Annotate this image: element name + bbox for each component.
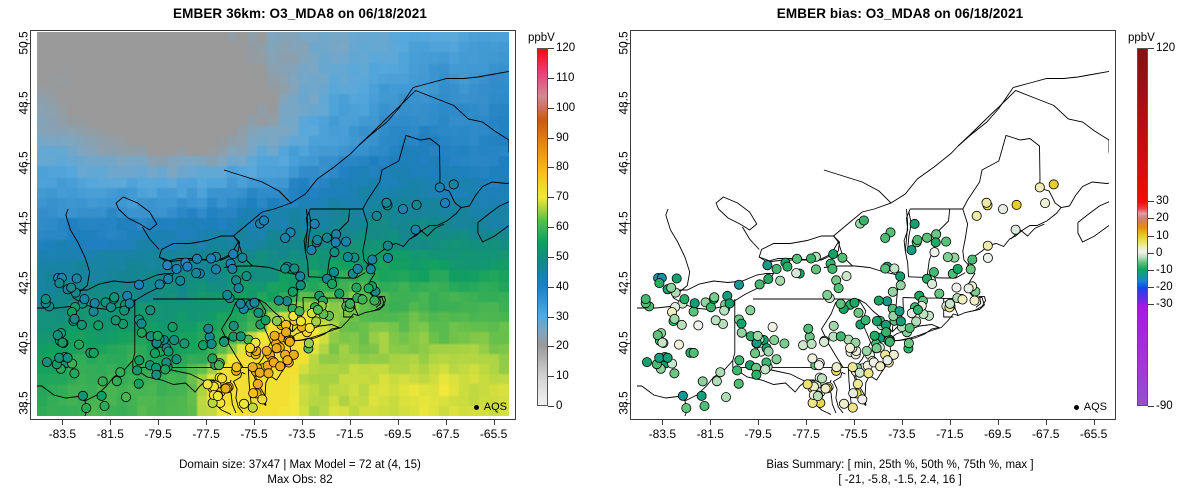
aqs-station-marker[interactable] bbox=[228, 264, 237, 273]
aqs-station-marker[interactable] bbox=[874, 296, 883, 305]
aqs-station-marker[interactable] bbox=[313, 305, 322, 314]
y-tick-label: 48.5 bbox=[616, 103, 630, 126]
aqs-station-marker[interactable] bbox=[972, 211, 981, 220]
aqs-station-marker[interactable] bbox=[353, 264, 362, 273]
aqs-station-marker[interactable] bbox=[896, 281, 905, 290]
aqs-station-marker[interactable] bbox=[1035, 183, 1044, 192]
aqs-station-marker[interactable] bbox=[854, 308, 863, 317]
aqs-station-marker[interactable] bbox=[658, 338, 667, 347]
aqs-station-marker[interactable] bbox=[964, 284, 973, 293]
aqs-station-marker[interactable] bbox=[249, 389, 258, 398]
aqs-station-marker[interactable] bbox=[449, 180, 458, 189]
aqs-station-marker[interactable] bbox=[199, 341, 208, 350]
aqs-station-marker[interactable] bbox=[281, 233, 290, 242]
aqs-station-marker[interactable] bbox=[689, 348, 698, 357]
colorbar-tick-label: 100 bbox=[556, 102, 575, 114]
aqs-station-marker[interactable] bbox=[382, 198, 391, 207]
aqs-station-marker[interactable] bbox=[836, 332, 845, 341]
aqs-station-marker[interactable] bbox=[689, 307, 698, 316]
aqs-station-marker[interactable] bbox=[832, 363, 841, 372]
aqs-station-marker[interactable] bbox=[872, 316, 881, 325]
aqs-station-marker[interactable] bbox=[711, 316, 720, 325]
aqs-station-marker[interactable] bbox=[368, 255, 377, 264]
aqs-station-marker[interactable] bbox=[55, 353, 64, 362]
aqs-station-marker[interactable] bbox=[435, 183, 444, 192]
aqs-station-marker[interactable] bbox=[211, 265, 220, 274]
aqs-station-marker[interactable] bbox=[164, 274, 173, 283]
aqs-station-marker[interactable] bbox=[885, 337, 894, 346]
bias-caption: Bias Summary: [ min, 25th %, 50th %, 75t… bbox=[600, 458, 1200, 488]
x-tick bbox=[950, 420, 951, 425]
aqs-station-marker[interactable] bbox=[168, 322, 177, 331]
aqs-station-marker[interactable] bbox=[41, 295, 50, 304]
aqs-station-marker[interactable] bbox=[94, 321, 103, 330]
aqs-station-marker[interactable] bbox=[100, 401, 109, 410]
aqs-station-marker[interactable] bbox=[313, 235, 322, 244]
aqs-station-marker[interactable] bbox=[412, 200, 421, 209]
aqs-station-marker[interactable] bbox=[694, 321, 703, 330]
aqs-station-marker[interactable] bbox=[780, 339, 789, 348]
aqs-station-marker[interactable] bbox=[329, 268, 338, 277]
aqs-station-marker[interactable] bbox=[135, 356, 144, 365]
aqs-station-marker[interactable] bbox=[153, 331, 162, 340]
aqs-station-marker[interactable] bbox=[183, 262, 192, 271]
aqs-station-marker[interactable] bbox=[752, 370, 761, 379]
aqs-station-marker[interactable] bbox=[282, 328, 291, 337]
aqs-station-marker[interactable] bbox=[930, 248, 939, 257]
aqs-station-marker[interactable] bbox=[881, 264, 890, 273]
aqs-station-marker[interactable] bbox=[264, 369, 273, 378]
aqs-station-marker[interactable] bbox=[352, 283, 361, 292]
aqs-station-marker[interactable] bbox=[206, 254, 215, 263]
aqs-station-marker[interactable] bbox=[217, 374, 226, 383]
aqs-station-marker[interactable] bbox=[1012, 200, 1021, 209]
aqs-station-marker[interactable] bbox=[849, 389, 858, 398]
aqs-station-marker[interactable] bbox=[261, 316, 270, 325]
aqs-station-marker[interactable] bbox=[111, 316, 120, 325]
x-tick-label: -83.5 bbox=[649, 427, 676, 441]
aqs-station-marker[interactable] bbox=[678, 391, 687, 400]
aqs-station-marker[interactable] bbox=[441, 199, 450, 208]
aqs-station-marker[interactable] bbox=[966, 265, 975, 274]
aqs-station-marker[interactable] bbox=[331, 238, 340, 247]
colorbar-tick bbox=[548, 287, 554, 288]
aqs-station-marker[interactable] bbox=[112, 377, 121, 386]
aqs-station-marker[interactable] bbox=[755, 280, 764, 289]
bias-plot-area[interactable]: AQS bbox=[630, 30, 1116, 420]
aqs-station-marker[interactable] bbox=[896, 272, 905, 281]
aqs-station-marker[interactable] bbox=[285, 337, 294, 346]
aqs-station-marker[interactable] bbox=[655, 353, 664, 362]
aqs-station-marker[interactable] bbox=[134, 379, 143, 388]
aqs-station-marker[interactable] bbox=[110, 293, 119, 302]
aqs-station-marker[interactable] bbox=[176, 276, 185, 285]
aqs-station-marker[interactable] bbox=[982, 198, 991, 207]
aqs-station-marker[interactable] bbox=[845, 343, 854, 352]
aqs-station-marker[interactable] bbox=[366, 265, 375, 274]
aqs-station-marker[interactable] bbox=[913, 305, 922, 314]
aqs-station-marker[interactable] bbox=[953, 264, 962, 273]
aqs-station-marker[interactable] bbox=[89, 307, 98, 316]
aqs-station-marker[interactable] bbox=[716, 368, 725, 377]
aqs-station-marker[interactable] bbox=[680, 295, 689, 304]
model-raster-wrap bbox=[37, 32, 509, 416]
aqs-station-marker[interactable] bbox=[970, 296, 979, 305]
aqs-station-marker[interactable] bbox=[881, 233, 890, 242]
aqs-station-marker[interactable] bbox=[172, 264, 181, 273]
aqs-station-marker[interactable] bbox=[942, 237, 951, 246]
aqs-station-marker[interactable] bbox=[945, 299, 954, 308]
aqs-station-marker[interactable] bbox=[80, 295, 89, 304]
aqs-station-marker[interactable] bbox=[97, 391, 106, 400]
aqs-station-marker[interactable] bbox=[670, 369, 679, 378]
aqs-station-marker[interactable] bbox=[192, 269, 201, 278]
aqs-station-marker[interactable] bbox=[839, 399, 848, 408]
aqs-station-marker[interactable] bbox=[725, 299, 734, 308]
aqs-station-marker[interactable] bbox=[270, 331, 279, 340]
aqs-station-marker[interactable] bbox=[817, 374, 826, 383]
aqs-station-marker[interactable] bbox=[232, 363, 241, 372]
aqs-station-marker[interactable] bbox=[55, 279, 64, 288]
y-tick-label: 42.5 bbox=[16, 283, 30, 306]
x-tick bbox=[806, 420, 807, 425]
aqs-station-marker[interactable] bbox=[72, 274, 81, 283]
aqs-station-marker[interactable] bbox=[721, 393, 730, 402]
aqs-station-marker[interactable] bbox=[710, 293, 719, 302]
colorbar-tick-label: -90 bbox=[1156, 400, 1173, 412]
aqs-station-marker[interactable] bbox=[783, 262, 792, 271]
bias-raster-wrap bbox=[637, 32, 1109, 416]
aqs-station-marker[interactable] bbox=[152, 370, 161, 379]
aqs-station-marker[interactable] bbox=[663, 353, 672, 362]
aqs-station-marker[interactable] bbox=[761, 365, 770, 374]
aqs-station-marker[interactable] bbox=[116, 368, 125, 377]
aqs-station-marker[interactable] bbox=[672, 274, 681, 283]
bias-caption-line2: [ -21, -5.8, -1.5, 2.4, 16 ] bbox=[600, 473, 1200, 488]
aqs-station-marker[interactable] bbox=[904, 339, 913, 348]
aqs-station-marker[interactable] bbox=[735, 356, 744, 365]
aqs-station-marker[interactable] bbox=[370, 296, 379, 305]
aqs-station-marker[interactable] bbox=[335, 289, 344, 298]
colorbar-tick-label: 110 bbox=[556, 72, 574, 84]
aqs-station-marker[interactable] bbox=[746, 306, 755, 315]
colorbar-tick-label: 80 bbox=[556, 161, 569, 173]
aqs-station-marker[interactable] bbox=[229, 250, 238, 259]
x-tick bbox=[1046, 420, 1047, 425]
aqs-station-marker[interactable] bbox=[803, 380, 812, 389]
aqs-station-marker[interactable] bbox=[698, 377, 707, 386]
aqs-station-marker[interactable] bbox=[983, 241, 992, 250]
aqs-station-marker[interactable] bbox=[952, 283, 961, 292]
aqs-station-marker[interactable] bbox=[829, 321, 838, 330]
x-tick bbox=[158, 420, 159, 425]
aqs-station-marker[interactable] bbox=[864, 369, 873, 378]
model-aqs-observations[interactable] bbox=[37, 32, 509, 416]
x-tick-label: -71.5 bbox=[936, 427, 963, 441]
aqs-station-marker[interactable] bbox=[58, 338, 67, 347]
aqs-station-marker[interactable] bbox=[792, 254, 801, 263]
colorbar-tick bbox=[1148, 406, 1154, 407]
aqs-station-marker[interactable] bbox=[342, 237, 351, 246]
aqs-station-marker[interactable] bbox=[63, 353, 72, 362]
aqs-station-marker[interactable] bbox=[848, 403, 857, 412]
aqs-station-marker[interactable] bbox=[213, 392, 222, 401]
aqs-station-marker[interactable] bbox=[383, 241, 392, 250]
colorbar-tick-label: 30 bbox=[556, 311, 569, 323]
aqs-station-marker[interactable] bbox=[855, 368, 864, 377]
aqs-station-marker[interactable] bbox=[42, 358, 51, 367]
aqs-station-marker[interactable] bbox=[733, 366, 742, 375]
aqs-station-marker[interactable] bbox=[223, 290, 232, 299]
x-tick-label: -75.5 bbox=[240, 427, 267, 441]
aqs-station-marker[interactable] bbox=[828, 264, 837, 273]
aqs-station-marker[interactable] bbox=[296, 281, 305, 290]
aqs-station-marker[interactable] bbox=[281, 264, 290, 273]
aqs-station-marker[interactable] bbox=[208, 354, 217, 363]
aqs-station-marker[interactable] bbox=[882, 328, 891, 337]
aqs-station-marker[interactable] bbox=[1041, 199, 1050, 208]
aqs-station-marker[interactable] bbox=[862, 346, 871, 355]
aqs-station-marker[interactable] bbox=[207, 339, 216, 348]
aqs-station-marker[interactable] bbox=[912, 317, 921, 326]
aqs-station-marker[interactable] bbox=[895, 307, 904, 316]
aqs-station-marker[interactable] bbox=[330, 248, 339, 257]
aqs-station-marker[interactable] bbox=[296, 272, 305, 281]
aqs-station-marker[interactable] bbox=[935, 289, 944, 298]
aqs-station-marker[interactable] bbox=[700, 401, 709, 410]
aqs-station-marker[interactable] bbox=[829, 250, 838, 259]
aqs-station-marker[interactable] bbox=[983, 253, 992, 262]
aqs-station-marker[interactable] bbox=[641, 295, 650, 304]
aqs-station-marker[interactable] bbox=[236, 332, 245, 341]
aqs-station-marker[interactable] bbox=[772, 264, 781, 273]
aqs-station-marker[interactable] bbox=[697, 391, 706, 400]
aqs-station-marker[interactable] bbox=[772, 355, 781, 364]
aqs-station-marker[interactable] bbox=[221, 384, 230, 393]
aqs-station-marker[interactable] bbox=[712, 377, 721, 386]
aqs-station-marker[interactable] bbox=[220, 337, 229, 346]
x-tick-label: -69.5 bbox=[984, 427, 1011, 441]
aqs-station-marker[interactable] bbox=[928, 279, 937, 288]
aqs-station-marker[interactable] bbox=[254, 308, 263, 317]
aqs-station-marker[interactable] bbox=[234, 284, 243, 293]
aqs-station-marker[interactable] bbox=[968, 255, 977, 264]
aqs-station-marker[interactable] bbox=[98, 377, 107, 386]
aqs-station-marker[interactable] bbox=[82, 404, 91, 413]
aqs-station-marker[interactable] bbox=[411, 225, 420, 234]
x-tick bbox=[398, 420, 399, 425]
aqs-station-marker[interactable] bbox=[161, 365, 170, 374]
colorbar-tick bbox=[1148, 253, 1154, 254]
aqs-station-marker[interactable] bbox=[137, 319, 146, 328]
aqs-station-marker[interactable] bbox=[811, 265, 820, 274]
aqs-station-marker[interactable] bbox=[931, 238, 940, 247]
aqs-station-marker[interactable] bbox=[1011, 225, 1020, 234]
aqs-station-marker[interactable] bbox=[253, 379, 262, 388]
aqs-station-marker[interactable] bbox=[125, 299, 134, 308]
aqs-station-marker[interactable] bbox=[734, 280, 743, 289]
aqs-station-marker[interactable] bbox=[929, 268, 938, 277]
aqs-station-marker[interactable] bbox=[163, 261, 172, 270]
aqs-station-marker[interactable] bbox=[239, 399, 248, 408]
aqs-station-marker[interactable] bbox=[890, 264, 899, 273]
aqs-station-marker[interactable] bbox=[753, 331, 762, 340]
aqs-station-marker[interactable] bbox=[133, 366, 142, 375]
aqs-station-marker[interactable] bbox=[242, 272, 251, 281]
aqs-station-marker[interactable] bbox=[77, 320, 86, 329]
model-plot-area[interactable]: AQS bbox=[30, 30, 516, 420]
aqs-station-marker[interactable] bbox=[858, 395, 867, 404]
aqs-station-marker[interactable] bbox=[836, 299, 845, 308]
aqs-station-marker[interactable] bbox=[768, 322, 777, 331]
aqs-station-marker[interactable] bbox=[180, 339, 189, 348]
aqs-station-marker[interactable] bbox=[238, 253, 247, 262]
aqs-station-marker[interactable] bbox=[734, 379, 743, 388]
aqs-station-marker[interactable] bbox=[276, 362, 285, 371]
aqs-station-marker[interactable] bbox=[655, 279, 664, 288]
colorbar-tick-label: 90 bbox=[556, 132, 569, 144]
aqs-station-marker[interactable] bbox=[296, 317, 305, 326]
aqs-station-marker[interactable] bbox=[134, 280, 143, 289]
aqs-station-marker[interactable] bbox=[383, 253, 392, 262]
aqs-station-marker[interactable] bbox=[850, 298, 859, 307]
aqs-station-marker[interactable] bbox=[804, 324, 813, 333]
aqs-station-marker[interactable] bbox=[820, 337, 829, 346]
aqs-station-marker[interactable] bbox=[358, 295, 367, 304]
aqs-station-marker[interactable] bbox=[842, 272, 851, 281]
aqs-station-marker[interactable] bbox=[274, 296, 283, 305]
aqs-station-marker[interactable] bbox=[203, 380, 212, 389]
aqs-station-marker[interactable] bbox=[312, 317, 321, 326]
colorbar-tick-label: 10 bbox=[556, 370, 569, 382]
aqs-station-marker[interactable] bbox=[770, 336, 779, 345]
aqs-station-marker[interactable] bbox=[310, 219, 319, 228]
aqs-station-marker[interactable] bbox=[372, 211, 381, 220]
aqs-station-marker[interactable] bbox=[799, 341, 808, 350]
aqs-station-marker[interactable] bbox=[245, 343, 254, 352]
aqs-station-marker[interactable] bbox=[67, 283, 76, 292]
aqs-station-marker[interactable] bbox=[876, 362, 885, 371]
aqs-station-marker[interactable] bbox=[258, 395, 267, 404]
aqs-station-marker[interactable] bbox=[913, 235, 922, 244]
aqs-station-marker[interactable] bbox=[690, 299, 699, 308]
aqs-station-marker[interactable] bbox=[823, 290, 832, 299]
aqs-station-marker[interactable] bbox=[764, 347, 773, 356]
colorbar-tick bbox=[548, 376, 554, 377]
aqs-station-marker[interactable] bbox=[958, 295, 967, 304]
aqs-station-marker[interactable] bbox=[888, 287, 897, 296]
aqs-station-marker[interactable] bbox=[813, 392, 822, 401]
aqs-station-marker[interactable] bbox=[667, 283, 676, 292]
aqs-station-marker[interactable] bbox=[70, 369, 79, 378]
colorbar-tick bbox=[1148, 201, 1154, 202]
aqs-station-marker[interactable] bbox=[290, 264, 299, 273]
aqs-station-marker[interactable] bbox=[288, 287, 297, 296]
aqs-station-marker[interactable] bbox=[776, 276, 785, 285]
aqs-station-marker[interactable] bbox=[806, 254, 815, 263]
aqs-station-marker[interactable] bbox=[677, 320, 686, 329]
model-y-axis: 38.540.542.544.546.548.550.5 bbox=[0, 30, 30, 420]
aqs-station-marker[interactable] bbox=[910, 219, 919, 228]
aqs-station-marker[interactable] bbox=[236, 299, 245, 308]
aqs-station-marker[interactable] bbox=[853, 379, 862, 388]
aqs-station-marker[interactable] bbox=[1049, 180, 1058, 189]
aqs-station-marker[interactable] bbox=[137, 328, 146, 337]
aqs-station-marker[interactable] bbox=[272, 316, 281, 325]
aqs-station-marker[interactable] bbox=[259, 216, 268, 225]
aqs-station-marker[interactable] bbox=[170, 336, 179, 345]
bias-caption-line1: Bias Summary: [ min, 25th %, 50th %, 75t… bbox=[766, 459, 1033, 471]
aqs-station-marker[interactable] bbox=[896, 317, 905, 326]
aqs-station-marker[interactable] bbox=[90, 299, 99, 308]
aqs-station-marker[interactable] bbox=[295, 307, 304, 316]
aqs-station-marker[interactable] bbox=[764, 274, 773, 283]
aqs-station-marker[interactable] bbox=[192, 254, 201, 263]
aqs-station-marker[interactable] bbox=[164, 347, 173, 356]
aqs-station-marker[interactable] bbox=[155, 280, 164, 289]
aqs-station-marker[interactable] bbox=[674, 340, 683, 349]
aqs-station-marker[interactable] bbox=[204, 324, 213, 333]
aqs-station-marker[interactable] bbox=[262, 346, 271, 355]
x-tick bbox=[302, 420, 303, 425]
colorbar-tick-label: 40 bbox=[556, 281, 569, 293]
colorbar-tick bbox=[548, 167, 554, 168]
aqs-station-marker[interactable] bbox=[343, 253, 352, 262]
aqs-station-marker[interactable] bbox=[398, 205, 407, 214]
aqs-station-marker[interactable] bbox=[737, 328, 746, 337]
aqs-station-marker[interactable] bbox=[807, 339, 816, 348]
aqs-station-marker[interactable] bbox=[792, 269, 801, 278]
colorbar-tick bbox=[1148, 236, 1154, 237]
aqs-station-marker[interactable] bbox=[78, 391, 87, 400]
aqs-station-marker[interactable] bbox=[834, 284, 843, 293]
aqs-station-marker[interactable] bbox=[121, 393, 130, 402]
aqs-station-marker[interactable] bbox=[364, 284, 373, 293]
aqs-station-marker[interactable] bbox=[304, 339, 313, 348]
aqs-station-marker[interactable] bbox=[248, 403, 257, 412]
aqs-station-marker[interactable] bbox=[861, 316, 870, 325]
colorbar-tick-label: 10 bbox=[1156, 230, 1169, 242]
aqs-station-marker[interactable] bbox=[859, 216, 868, 225]
aqs-station-marker[interactable] bbox=[750, 349, 759, 358]
aqs-station-marker[interactable] bbox=[345, 299, 354, 308]
aqs-station-marker[interactable] bbox=[943, 253, 952, 262]
aqs-station-marker[interactable] bbox=[737, 319, 746, 328]
aqs-station-marker[interactable] bbox=[642, 358, 651, 367]
aqs-station-marker[interactable] bbox=[821, 384, 830, 393]
aqs-station-marker[interactable] bbox=[808, 354, 817, 363]
x-tick bbox=[446, 420, 447, 425]
aqs-station-marker[interactable] bbox=[838, 253, 847, 262]
aqs-station-marker[interactable] bbox=[146, 306, 155, 315]
x-tick bbox=[662, 420, 663, 425]
aqs-station-marker[interactable] bbox=[922, 233, 931, 242]
aqs-station-marker[interactable] bbox=[763, 261, 772, 270]
aqs-station-marker[interactable] bbox=[322, 233, 331, 242]
aqs-station-marker[interactable] bbox=[150, 349, 159, 358]
bias-aqs-observations[interactable] bbox=[637, 32, 1109, 416]
aqs-station-marker[interactable] bbox=[74, 340, 83, 349]
aqs-station-marker[interactable] bbox=[250, 298, 259, 307]
aqs-station-marker[interactable] bbox=[998, 205, 1007, 214]
aqs-station-marker[interactable] bbox=[328, 279, 337, 288]
aqs-station-marker[interactable] bbox=[172, 355, 181, 364]
aqs-station-marker[interactable] bbox=[229, 321, 238, 330]
aqs-station-marker[interactable] bbox=[682, 404, 691, 413]
aqs-station-marker[interactable] bbox=[89, 348, 98, 357]
aqs-station-marker[interactable] bbox=[255, 368, 264, 377]
aqs-station-marker[interactable] bbox=[870, 331, 879, 340]
